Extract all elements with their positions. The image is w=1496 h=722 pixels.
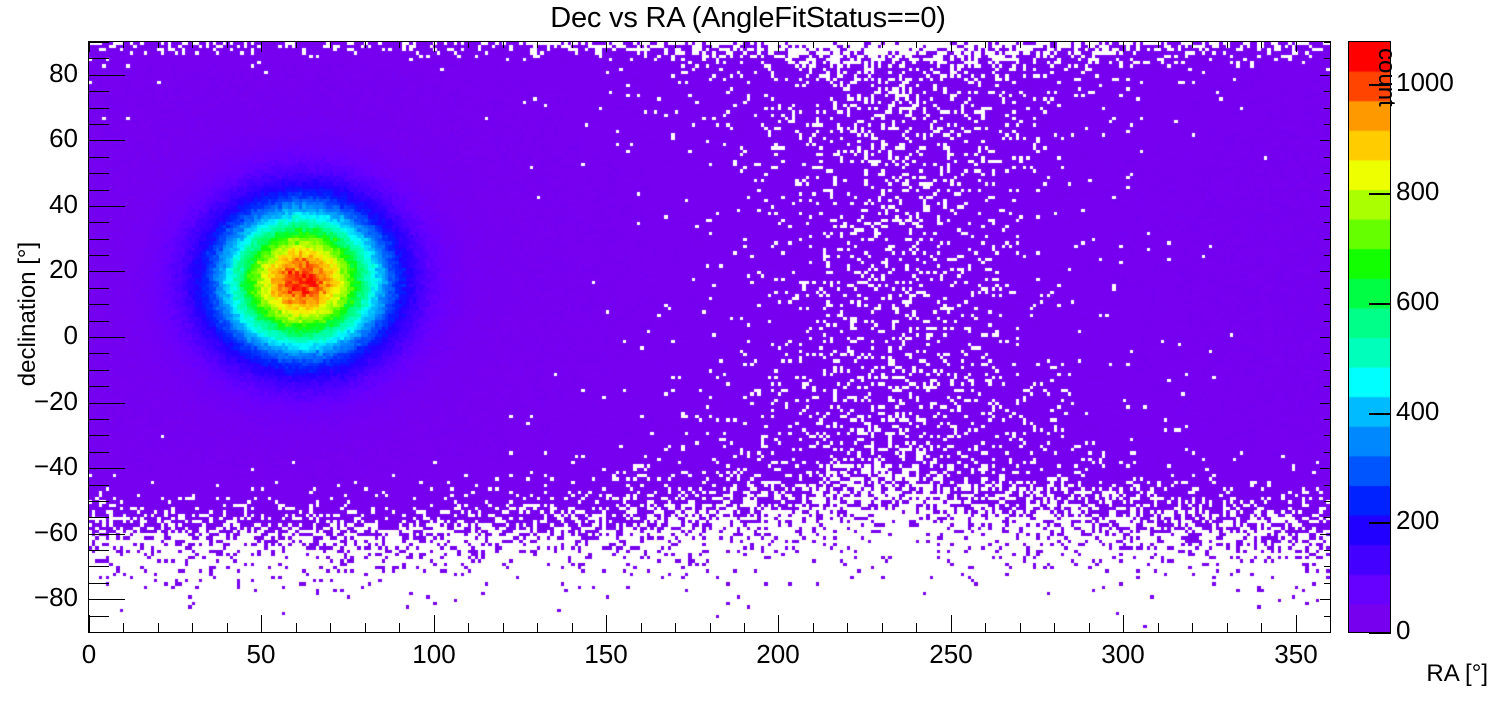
y-tick-minor-right <box>1324 550 1330 551</box>
x-tick-minor-top <box>813 42 814 48</box>
x-tick-minor-top <box>227 42 228 48</box>
x-tick-minor <box>296 623 297 632</box>
colorbar-tick <box>1369 193 1391 195</box>
x-tick-minor-top <box>365 42 366 48</box>
x-tick-major-top <box>434 42 435 52</box>
y-tick-minor-right <box>1324 58 1330 59</box>
colorbar-tick-label: 600 <box>1396 286 1439 317</box>
x-tick-minor-top <box>675 42 676 48</box>
x-tick-major-top <box>606 42 607 52</box>
y-tick-minor-right <box>1324 255 1330 256</box>
x-tick-minor <box>1330 623 1331 632</box>
y-tick-minor <box>89 42 109 43</box>
x-tick-minor-top <box>296 42 297 48</box>
y-tick-major-right <box>1320 140 1330 141</box>
y-tick-minor-right <box>1324 190 1330 191</box>
x-tick-minor-top <box>399 42 400 48</box>
x-tick-minor-top <box>1192 42 1193 48</box>
x-tick-minor <box>847 623 848 632</box>
y-tick-major-right <box>1320 206 1330 207</box>
y-tick-minor <box>89 239 109 240</box>
x-tick-minor-top <box>1330 42 1331 48</box>
y-tick-minor <box>89 517 109 518</box>
x-tick-major <box>89 615 90 632</box>
x-tick-minor <box>399 623 400 632</box>
x-tick-label: 150 <box>546 639 666 670</box>
x-tick-minor <box>916 623 917 632</box>
x-tick-minor <box>123 623 124 632</box>
y-tick-major <box>89 403 125 404</box>
x-tick-minor-top <box>1054 42 1055 48</box>
x-tick-minor <box>365 623 366 632</box>
x-tick-major-top <box>1296 42 1297 52</box>
y-tick-minor-right <box>1324 517 1330 518</box>
x-tick-major <box>261 615 262 632</box>
x-tick-minor-top <box>882 42 883 48</box>
y-tick-minor-right <box>1324 222 1330 223</box>
x-tick-minor <box>227 623 228 632</box>
y-tick-major <box>89 337 125 338</box>
histogram-2d <box>89 42 1330 632</box>
y-tick-minor-right <box>1324 583 1330 584</box>
y-tick-minor <box>89 190 109 191</box>
x-tick-minor <box>1192 623 1193 632</box>
x-tick-minor <box>572 623 573 632</box>
x-tick-minor <box>1089 623 1090 632</box>
x-tick-minor-top <box>468 42 469 48</box>
x-tick-major <box>1123 615 1124 632</box>
page-title: Dec vs RA (AngleFitStatus==0) <box>0 2 1496 35</box>
x-tick-major-top <box>778 42 779 52</box>
colorbar-title: count <box>1372 48 1400 107</box>
y-tick-major <box>89 468 125 469</box>
y-tick-major-right <box>1320 468 1330 469</box>
y-tick-minor-right <box>1324 42 1330 43</box>
x-tick-major-top <box>261 42 262 52</box>
y-tick-minor <box>89 501 109 502</box>
x-tick-minor <box>710 623 711 632</box>
x-tick-major-top <box>951 42 952 52</box>
x-tick-minor <box>503 623 504 632</box>
y-tick-label: −60 <box>0 517 78 548</box>
x-tick-label: 100 <box>374 639 494 670</box>
y-tick-minor-right <box>1324 108 1330 109</box>
x-tick-major <box>1296 615 1297 632</box>
colorbar-tick <box>1369 303 1391 305</box>
x-tick-minor <box>192 623 193 632</box>
y-tick-major-right <box>1320 337 1330 338</box>
y-axis-title: declination [°] <box>14 194 42 434</box>
x-tick-label: 350 <box>1236 639 1356 670</box>
y-tick-minor-right <box>1324 124 1330 125</box>
y-tick-minor-right <box>1324 157 1330 158</box>
x-tick-minor-top <box>158 42 159 48</box>
x-tick-minor <box>882 623 883 632</box>
y-tick-major <box>89 271 125 272</box>
y-tick-minor-right <box>1324 321 1330 322</box>
x-tick-minor-top <box>537 42 538 48</box>
y-tick-minor <box>89 255 109 256</box>
y-tick-minor <box>89 124 109 125</box>
x-tick-major <box>434 615 435 632</box>
x-tick-label: 50 <box>201 639 321 670</box>
y-tick-minor <box>89 485 109 486</box>
x-tick-minor-top <box>847 42 848 48</box>
x-tick-minor <box>813 623 814 632</box>
y-tick-minor-right <box>1324 632 1330 633</box>
colorbar[interactable] <box>1348 41 1391 633</box>
root-canvas: Dec vs RA (AngleFitStatus==0) 0501001502… <box>0 0 1496 722</box>
x-tick-minor <box>1227 623 1228 632</box>
x-tick-minor-top <box>1227 42 1228 48</box>
x-tick-minor <box>675 623 676 632</box>
colorbar-tick-label: 800 <box>1396 176 1439 207</box>
colorbar-tick <box>1369 522 1391 524</box>
x-tick-minor <box>641 623 642 632</box>
y-tick-minor <box>89 386 109 387</box>
y-tick-minor-right <box>1324 91 1330 92</box>
y-tick-major-right <box>1320 75 1330 76</box>
y-tick-major <box>89 140 125 141</box>
x-tick-minor-top <box>503 42 504 48</box>
y-tick-label: 80 <box>0 58 78 89</box>
x-tick-minor <box>1020 623 1021 632</box>
y-tick-minor <box>89 288 109 289</box>
plot-area[interactable] <box>88 41 1331 633</box>
y-tick-minor <box>89 304 109 305</box>
y-tick-minor <box>89 58 109 59</box>
y-tick-minor-right <box>1324 616 1330 617</box>
x-tick-minor-top <box>1158 42 1159 48</box>
y-tick-minor-right <box>1324 386 1330 387</box>
x-tick-minor-top <box>123 42 124 48</box>
y-tick-major-right <box>1320 271 1330 272</box>
y-tick-minor-right <box>1324 353 1330 354</box>
x-tick-minor-top <box>1261 42 1262 48</box>
y-tick-minor-right <box>1324 304 1330 305</box>
y-tick-minor-right <box>1324 501 1330 502</box>
colorbar-tick-label: 1000 <box>1396 67 1454 98</box>
x-tick-minor-top <box>1020 42 1021 48</box>
x-tick-minor <box>744 623 745 632</box>
y-tick-minor <box>89 321 109 322</box>
x-tick-major <box>951 615 952 632</box>
x-tick-minor <box>1261 623 1262 632</box>
x-axis-title: RA [°] <box>1426 660 1488 688</box>
colorbar-tick-label: 400 <box>1396 396 1439 427</box>
y-tick-minor <box>89 632 109 633</box>
x-tick-minor-top <box>641 42 642 48</box>
y-tick-minor <box>89 550 109 551</box>
x-tick-minor <box>330 623 331 632</box>
y-tick-minor-right <box>1324 485 1330 486</box>
colorbar-tick <box>1369 632 1391 634</box>
y-tick-label: −40 <box>0 451 78 482</box>
y-tick-minor <box>89 370 109 371</box>
x-tick-label: 0 <box>29 639 149 670</box>
y-tick-minor <box>89 435 109 436</box>
x-tick-label: 300 <box>1063 639 1183 670</box>
y-tick-minor-right <box>1324 452 1330 453</box>
y-tick-major-right <box>1320 534 1330 535</box>
y-tick-minor-right <box>1324 435 1330 436</box>
x-tick-minor <box>468 623 469 632</box>
colorbar-tick <box>1369 413 1391 415</box>
x-tick-minor-top <box>710 42 711 48</box>
colorbar-tick-label: 0 <box>1396 615 1410 646</box>
x-tick-minor-top <box>985 42 986 48</box>
x-tick-minor-top <box>744 42 745 48</box>
x-tick-minor <box>1054 623 1055 632</box>
x-tick-label: 200 <box>718 639 838 670</box>
y-tick-minor-right <box>1324 566 1330 567</box>
y-tick-minor-right <box>1324 288 1330 289</box>
x-tick-minor <box>158 623 159 632</box>
y-tick-minor <box>89 583 109 584</box>
x-tick-minor-top <box>1089 42 1090 48</box>
y-tick-minor-right <box>1324 173 1330 174</box>
x-tick-minor <box>1158 623 1159 632</box>
y-tick-minor-right <box>1324 419 1330 420</box>
y-tick-minor <box>89 353 109 354</box>
colorbar-gradient <box>1348 41 1391 633</box>
y-tick-minor <box>89 108 109 109</box>
y-tick-minor <box>89 419 109 420</box>
x-tick-minor <box>537 623 538 632</box>
y-tick-major <box>89 599 125 600</box>
x-tick-minor-top <box>572 42 573 48</box>
colorbar-tick-label: 200 <box>1396 505 1439 536</box>
x-tick-label: 250 <box>891 639 1011 670</box>
y-tick-minor <box>89 616 109 617</box>
x-tick-minor-top <box>916 42 917 48</box>
y-tick-minor <box>89 173 109 174</box>
y-tick-minor-right <box>1324 370 1330 371</box>
x-tick-minor-top <box>192 42 193 48</box>
y-tick-label: −80 <box>0 582 78 613</box>
y-tick-minor-right <box>1324 239 1330 240</box>
x-tick-major-top <box>1123 42 1124 52</box>
y-tick-label: 60 <box>0 123 78 154</box>
y-tick-major <box>89 75 125 76</box>
y-tick-major-right <box>1320 599 1330 600</box>
x-tick-minor <box>985 623 986 632</box>
x-tick-major <box>778 615 779 632</box>
x-tick-major <box>606 615 607 632</box>
y-tick-major <box>89 534 125 535</box>
y-tick-minor <box>89 91 109 92</box>
y-tick-major-right <box>1320 403 1330 404</box>
y-tick-minor <box>89 222 109 223</box>
y-tick-major <box>89 206 125 207</box>
y-tick-minor <box>89 157 109 158</box>
y-tick-minor <box>89 452 109 453</box>
y-tick-minor <box>89 566 109 567</box>
x-tick-minor-top <box>330 42 331 48</box>
x-tick-major-top <box>89 42 90 52</box>
